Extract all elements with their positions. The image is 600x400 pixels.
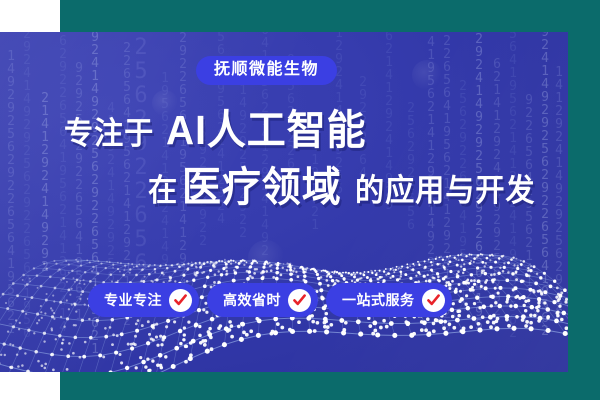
white-notch-bottom-left xyxy=(0,372,60,400)
headline-line1-emphasis: AI人工智能 xyxy=(166,110,366,151)
banner-panel: 1 4 9 2 9 2 5 6 2 9 2 2 6 5 6 4 1 9 5 6 … xyxy=(0,32,568,372)
brand-badge: 抚顺微能生物 xyxy=(196,56,337,85)
feature-pill: 专业专注 xyxy=(88,283,199,317)
white-notch-top-left xyxy=(0,0,60,32)
feature-pill-list: 专业专注高效省时一站式服务 xyxy=(88,283,452,317)
check-icon xyxy=(288,289,311,312)
ai-medical-banner: 1 4 9 2 9 2 5 6 2 9 2 2 6 5 6 4 1 9 5 6 … xyxy=(0,0,600,400)
headline-line2-prefix: 在 xyxy=(148,175,178,206)
headline-line2-suffix: 的应用与开发 xyxy=(355,175,535,206)
feature-pill: 一站式服务 xyxy=(326,283,452,317)
feature-pill-label: 一站式服务 xyxy=(342,288,415,312)
headline-line-2: 在医疗领域的应用与开发 xyxy=(0,167,568,208)
check-icon xyxy=(169,289,192,312)
headline-line1-prefix: 专注于 xyxy=(64,118,154,149)
banner-content: 抚顺微能生物 专注于AI人工智能 在医疗领域的应用与开发 专业专注高效省时一站式… xyxy=(0,32,568,372)
headline-block: 专注于AI人工智能 在医疗领域的应用与开发 xyxy=(0,110,568,208)
feature-pill-label: 专业专注 xyxy=(104,288,162,312)
check-icon xyxy=(422,289,445,312)
feature-pill-label: 高效省时 xyxy=(223,288,281,312)
feature-pill: 高效省时 xyxy=(207,283,318,317)
headline-line2-emphasis: 医疗领域 xyxy=(182,167,342,208)
headline-line-1: 专注于AI人工智能 xyxy=(0,110,568,151)
